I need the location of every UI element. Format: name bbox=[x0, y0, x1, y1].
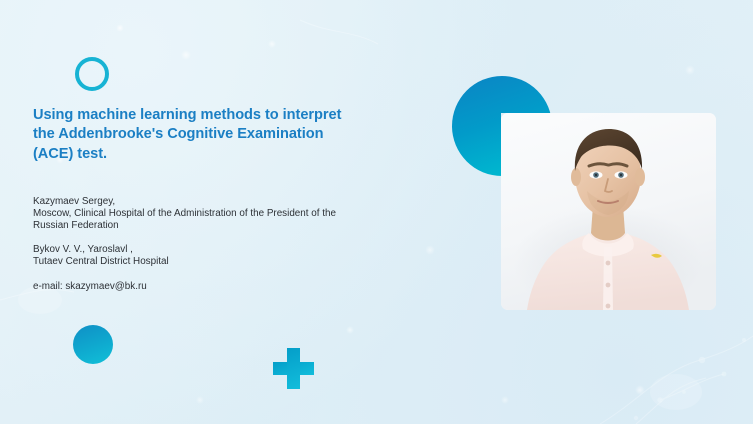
presentation-slide: Using machine learning methods to interp… bbox=[0, 0, 753, 424]
title-line-3: (ACE) test. bbox=[33, 145, 433, 164]
title-line-2: the Addenbrooke's Cognitive Examination bbox=[33, 125, 433, 144]
primary-author-affiliation-line-2: Russian Federation bbox=[33, 220, 443, 232]
primary-author-name: Kazymaev Sergey, bbox=[33, 196, 443, 208]
plus-vertical-bar bbox=[287, 348, 300, 389]
circle-outline-icon bbox=[75, 57, 109, 91]
secondary-author-affiliation: Tutaev Central District Hospital bbox=[33, 256, 443, 268]
author-affiliation-block: Kazymaev Sergey, Moscow, Clinical Hospit… bbox=[33, 196, 443, 293]
title-line-1: Using machine learning methods to interp… bbox=[33, 106, 433, 125]
presenter-photo bbox=[501, 113, 716, 310]
byline-spacer-2 bbox=[33, 269, 443, 281]
contact-email: e-mail: skazymaev@bk.ru bbox=[33, 281, 443, 293]
secondary-author-name: Bykov V. V., Yaroslavl , bbox=[33, 244, 443, 256]
presenter-portrait-image bbox=[501, 113, 716, 310]
primary-author-affiliation-line-1: Moscow, Clinical Hospital of the Adminis… bbox=[33, 208, 443, 220]
byline-spacer-1 bbox=[33, 232, 443, 244]
circle-filled-icon bbox=[73, 325, 113, 364]
page-title: Using machine learning methods to interp… bbox=[33, 106, 433, 164]
plus-icon bbox=[273, 348, 314, 389]
primary-author: Kazymaev Sergey, Moscow, Clinical Hospit… bbox=[33, 196, 443, 232]
secondary-author: Bykov V. V., Yaroslavl , Tutaev Central … bbox=[33, 244, 443, 268]
